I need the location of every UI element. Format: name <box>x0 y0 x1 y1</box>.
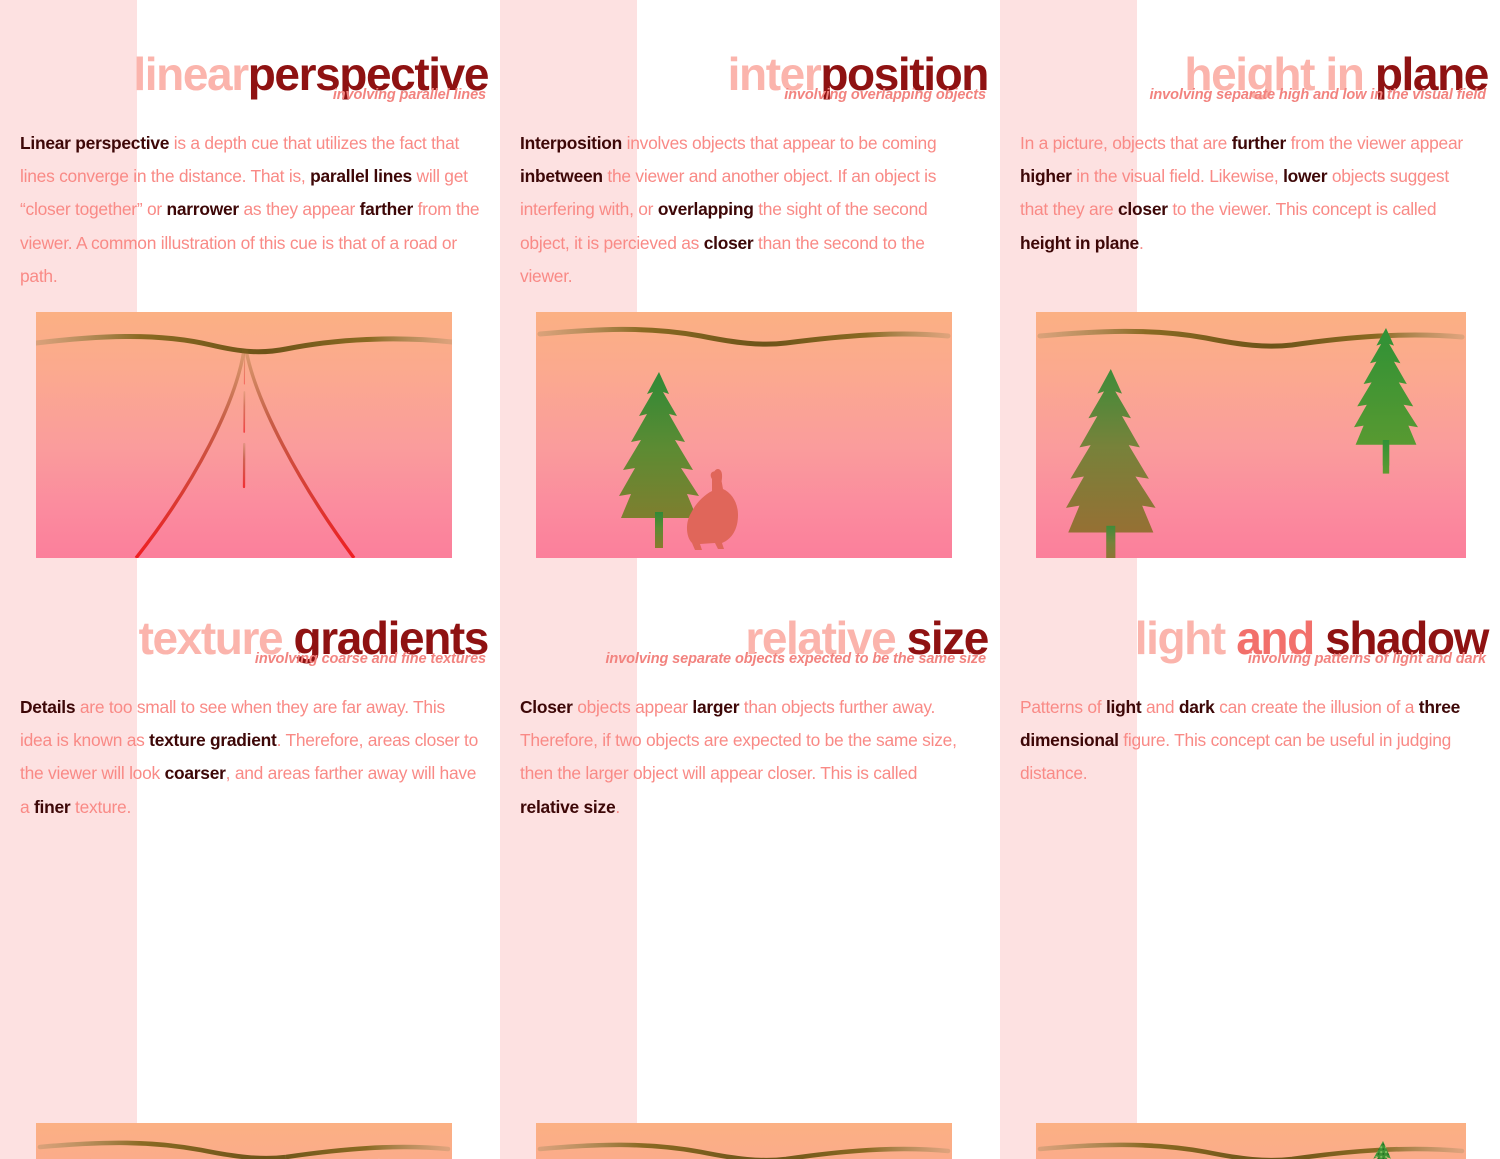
body-text-run: In a picture, objects that are <box>1020 133 1232 153</box>
body-text-emphasis: relative size <box>520 797 615 817</box>
panel-relative-size: relative size involving separate objects… <box>500 580 1000 1159</box>
body-text-emphasis: Interposition <box>520 133 622 153</box>
body-text-emphasis: farther <box>360 199 413 219</box>
body-text-emphasis: overlapping <box>658 199 754 219</box>
panel-grid: linearperspective involving parallel lin… <box>0 0 1500 1159</box>
illustration-two-trees-different-sizes <box>536 1123 952 1159</box>
body-text-run: can create the illusion of a <box>1215 697 1419 717</box>
panel-header: interposition involving overlapping obje… <box>500 0 1000 103</box>
body-text-run: involves objects that appear to be comin… <box>622 133 936 153</box>
heading-part-pale: linear <box>133 48 247 100</box>
body-text-emphasis: inbetween <box>520 166 603 186</box>
panel-subheading: involving separate objects expected to b… <box>500 652 988 667</box>
panel-light-and-shadow: light and shadow involving patterns of l… <box>1000 580 1500 1159</box>
body-text-run: texture. <box>70 797 131 817</box>
panel-body-text: Details are too small to see when they a… <box>20 691 480 825</box>
panel-header: texture gradients involving coarse and f… <box>0 580 500 667</box>
body-text-emphasis: narrower <box>167 199 239 219</box>
body-text-emphasis: light <box>1106 697 1141 717</box>
panel-body-text: In a picture, objects that are further f… <box>1020 127 1480 261</box>
panel-texture-gradients: texture gradients involving coarse and f… <box>0 580 500 1159</box>
body-text-run: . <box>615 797 620 817</box>
body-text-run: to the viewer. This concept is called <box>1168 199 1437 219</box>
body-text-run: Patterns of <box>1020 697 1106 717</box>
illustration-two-trees-different-heights <box>1036 312 1466 558</box>
illustration-road-converging-lines <box>36 312 452 558</box>
illustration-grass-texture-field <box>36 1123 452 1159</box>
body-text-emphasis: Closer <box>520 697 573 717</box>
body-text-run: from the viewer appear <box>1286 133 1463 153</box>
body-text-emphasis: Linear perspective <box>20 133 169 153</box>
body-text-emphasis: texture gradient <box>149 730 276 750</box>
panel-body-text: Patterns of light and dark can create th… <box>1020 691 1480 791</box>
body-text-run: objects appear <box>573 697 693 717</box>
body-text-emphasis: higher <box>1020 166 1072 186</box>
body-text-emphasis: finer <box>34 797 70 817</box>
panel-linear-perspective: linearperspective involving parallel lin… <box>0 0 500 580</box>
body-text-emphasis: height in plane <box>1020 233 1139 253</box>
body-text-emphasis: closer <box>704 233 754 253</box>
panel-header: linearperspective involving parallel lin… <box>0 0 500 103</box>
body-text-emphasis: closer <box>1118 199 1168 219</box>
infographic-poster: linearperspective involving parallel lin… <box>0 0 1500 1159</box>
heading-part-pale: light <box>1135 612 1236 664</box>
panel-height-in-plane: height in plane involving separate high … <box>1000 0 1500 580</box>
body-text-emphasis: Details <box>20 697 75 717</box>
body-text-emphasis: lower <box>1283 166 1327 186</box>
body-text-run: in the visual field. Likewise, <box>1072 166 1283 186</box>
panel-body-text: Closer objects appear larger than object… <box>520 691 980 825</box>
panel-header: light and shadow involving patterns of l… <box>1000 580 1500 667</box>
panel-subheading: involving separate high and low in the v… <box>1000 88 1488 103</box>
panel-body-text: Linear perspective is a depth cue that u… <box>20 127 480 294</box>
body-text-emphasis: further <box>1232 133 1286 153</box>
body-text-emphasis: coarser <box>165 763 226 783</box>
body-text-emphasis: parallel lines <box>310 166 412 186</box>
illustration-tree-with-rabbit-overlap <box>536 312 952 558</box>
body-text-run: . <box>1139 233 1144 253</box>
panel-body-text: Interposition involves objects that appe… <box>520 127 980 294</box>
body-text-run: and <box>1141 697 1178 717</box>
panel-interposition: interposition involving overlapping obje… <box>500 0 1000 580</box>
body-text-run: as they appear <box>239 199 360 219</box>
body-text-emphasis: dark <box>1179 697 1215 717</box>
illustration-shaded-rabbit-and-tree <box>1036 1123 1466 1159</box>
body-text-emphasis: larger <box>692 697 739 717</box>
panel-header: height in plane involving separate high … <box>1000 0 1500 103</box>
panel-header: relative size involving separate objects… <box>500 580 1000 667</box>
